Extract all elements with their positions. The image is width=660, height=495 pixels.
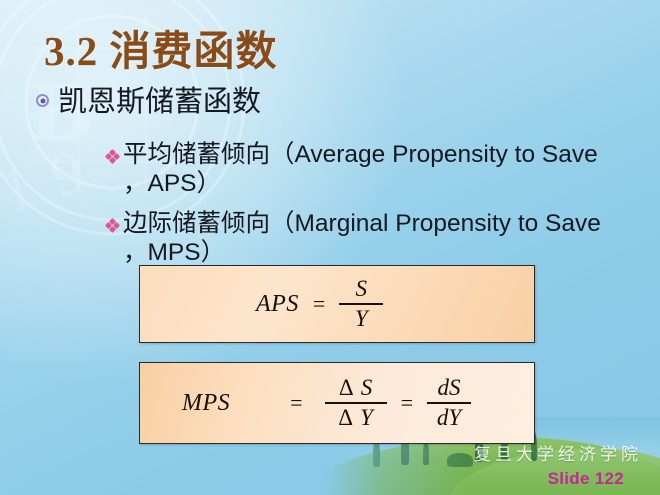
mps-lhs: MPS [182, 390, 230, 417]
aps-fraction-bar [339, 303, 383, 305]
slide-number: Slide 122 [548, 469, 624, 489]
aps-equals-sign: = [313, 291, 325, 317]
outline-level2-item-mps: 边际储蓄倾向（Marginal Propensity to Save ，MPS） [106, 210, 654, 268]
aps-lhs: APS [256, 291, 299, 318]
mps-numerator-1-var: S [361, 375, 373, 400]
delta-symbol-denominator: Δ [338, 405, 353, 430]
mps-delta-fraction: ΔS ΔY [325, 376, 387, 429]
mps-denominator-1: ΔY [330, 406, 381, 430]
mps-equals-sign-2: = [401, 390, 413, 416]
slide-title: 3.2 消费函数 [44, 30, 278, 73]
mps-line-1: 边际储蓄倾向（Marginal Propensity to Save [123, 210, 601, 237]
diamond-cluster-bullet-icon [106, 219, 119, 232]
footer-organization: 复旦大学经济学院 [474, 440, 642, 465]
diamond-cluster-bullet-icon [106, 150, 119, 163]
mps-denominator-1-var: Y [360, 405, 373, 430]
mps-line-2: ，MPS） [123, 239, 225, 266]
outline-level1-item: 凯恩斯储蓄函数 [36, 86, 261, 118]
aps-numerator: S [348, 277, 376, 301]
aps-line-1: 平均储蓄倾向（Average Propensity to Save [123, 141, 598, 168]
ring-dot-bullet-icon [36, 94, 49, 107]
mps-derivative-fraction: dS dY [427, 376, 471, 429]
mps-fraction-bar-2 [427, 402, 471, 404]
mps-equals-sign-1: = [290, 390, 302, 416]
delta-symbol-numerator: Δ [339, 375, 354, 400]
aps-equation: APS = S Y [256, 277, 383, 330]
presentation-slide: B 1 9 3.2 消费函数 凯恩斯储蓄函数 [0, 0, 660, 495]
mps-equation: MPS = ΔS ΔY = dS dY [182, 376, 471, 429]
mps-denominator-2: dY [429, 406, 469, 430]
aps-denominator: Y [347, 307, 376, 331]
svg-text:1 9: 1 9 [0, 140, 94, 226]
mps-fraction-bar-1 [325, 402, 387, 404]
aps-fraction: S Y [339, 277, 383, 330]
aps-line-2: ，APS） [123, 170, 221, 197]
mps-numerator-2: dS [430, 376, 469, 400]
outline-level2-label-mps: 边际储蓄倾向（Marginal Propensity to Save ，MPS） [123, 210, 601, 268]
outline-level2-item-aps: 平均储蓄倾向（Average Propensity to Save ，APS） [106, 141, 654, 199]
outline-level1-label: 凯恩斯储蓄函数 [58, 86, 261, 118]
outline-level2-label-aps: 平均储蓄倾向（Average Propensity to Save ，APS） [123, 141, 598, 199]
formula-box-mps: MPS = ΔS ΔY = dS dY [139, 362, 535, 444]
mps-numerator-1: ΔS [331, 376, 380, 400]
formula-box-aps: APS = S Y [139, 265, 535, 343]
